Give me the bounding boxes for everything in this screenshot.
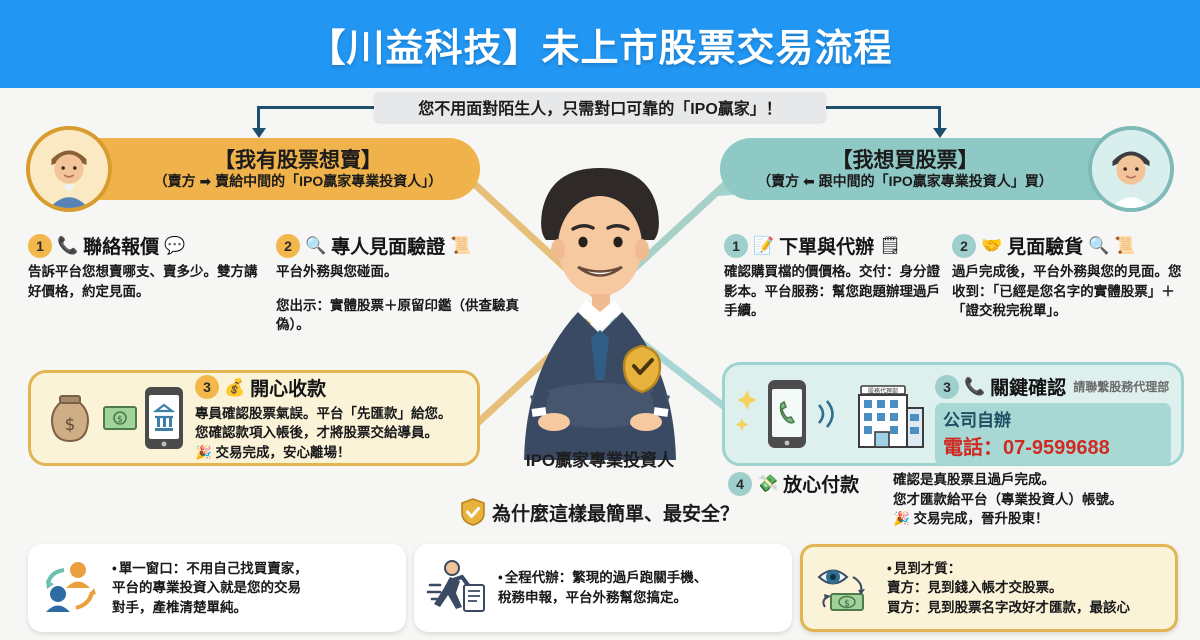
company-building-icon: 股務代理部 — [847, 376, 927, 452]
left-step-2-title: 專人見面驗證 — [331, 232, 445, 259]
right-step-4-line-1: 確認是真股票且過戶完成。 — [893, 470, 1188, 490]
benefit-card-2-text: •全程代辦：繁現的過戶跑關手機、 稅務申報，平台外務幫您搞定。 — [498, 568, 707, 607]
magnifier-icon: 🔍 — [1088, 237, 1109, 254]
benefit-card-2: •全程代辦：繁現的過戶跑關手機、 稅務申報，平台外務幫您搞定。 — [414, 544, 792, 632]
benefit-card-3: $ •見到才質： 賣方：見到錢入帳才交股票。 買方：見到股票名字改好才匯款，最該… — [800, 544, 1178, 632]
top-banner: 您不用面對陌生人，只需對口可靠的「IPO贏家」！ — [374, 92, 826, 122]
contact-phone[interactable]: 電話：07-9599688 — [943, 431, 1163, 460]
left-step-3-line-2: 您確認款項入帳後，才將股票交給導員。 — [195, 423, 465, 443]
banner-drop-right — [938, 106, 941, 130]
left-step-2-body-1: 平台外務與您碰面。 — [276, 262, 526, 282]
certificate-icon: 📜 — [450, 237, 471, 254]
right-step-2-body: 過戶完成後，平台外務與您的見面。您收到：「已經是您名字的實體股票」＋「證交稅完稅… — [952, 262, 1190, 321]
benefit-1-line-3: 對手，產椎清楚單純。 — [112, 598, 308, 618]
right-step-3-note: 請聯繫股務代理部 — [1073, 378, 1169, 395]
left-step-2-number: 2 — [276, 234, 300, 258]
svg-text:$: $ — [65, 415, 76, 435]
handshake-icon: 🤝 — [981, 237, 1002, 254]
bullet-2: • — [498, 570, 503, 585]
arrow-down-right-icon — [933, 128, 947, 138]
bullet-1: • — [112, 561, 117, 576]
right-step-1-title: 下單與代辦 — [779, 232, 874, 259]
arrow-down-left-icon — [252, 128, 266, 138]
chat-bubble-icon: 💬 — [164, 237, 185, 254]
left-step-3-line-3: 🎉 交易完成，安心離場！ — [195, 443, 465, 463]
left-panel-icons: $ $ — [43, 385, 185, 451]
banner-line-left — [258, 106, 378, 109]
memo-pencil-icon: 📝 — [753, 237, 774, 254]
signal-wave-icon — [815, 397, 841, 431]
mobile-call-icon — [765, 378, 809, 450]
right-side-subtitle: （賣方 ⬅ 跟中間的「IPO贏家專業投資人」買） — [720, 174, 1090, 189]
magnifier-icon: 🔍 — [305, 237, 326, 254]
running-person-document-icon — [426, 559, 488, 617]
center-caption: IPO贏家專業投資人 — [466, 446, 734, 471]
cash-fly-icon: 💸 — [757, 475, 778, 492]
left-side-title: 【我有股票想賣】 — [116, 149, 480, 172]
buyer-avatar-icon — [1088, 126, 1174, 212]
infographic-page: 【川益科技】未上市股票交易流程 您不用面對陌生人，只需對口可靠的「IPO贏家」！… — [0, 0, 1200, 640]
left-step-3-title: 開心收款 — [250, 374, 326, 401]
eye-money-icon: $ — [815, 561, 877, 615]
svg-text:$: $ — [117, 415, 123, 425]
benefit-card-1-text: •單一窗口：不用自己找買賣家， 平台的專業投資入就是您的交易 對手，產椎清楚單純… — [112, 559, 308, 618]
contact-box: 公司自辦 電話：07-9599688 — [935, 403, 1171, 465]
banknote-icon: $ — [103, 406, 137, 430]
right-step-3-number: 3 — [935, 375, 959, 399]
left-step-1-body: 告訴平台您想賣哪支、賣多少。雙方講好價格，約定見面。 — [28, 262, 260, 301]
left-step-3-line-1: 專員確認股票氣誤。平台「先匯款」給您。 — [195, 404, 465, 424]
money-bag-icon: 💰 — [224, 379, 245, 396]
clipboard-pen-icon: 🗒 — [879, 237, 901, 254]
left-step-3-number: 3 — [195, 375, 219, 399]
right-step-3-title: 關鍵確認 — [990, 373, 1066, 400]
mobile-bank-icon — [143, 385, 185, 451]
left-step-3-panel: $ $ 3 💰 開心收款 — [28, 370, 480, 466]
right-step-4-number: 4 — [728, 472, 752, 496]
right-panel-icons: 股務代理部 — [735, 373, 927, 455]
right-step-4-line-2: 您才匯款給平台（專業投資人）帳號。 — [893, 490, 1188, 510]
left-step-1-title: 聯絡報價 — [83, 232, 159, 259]
money-bag-icon: $ — [43, 390, 97, 446]
right-step-3-panel: 股務代理部 3 📞 關鍵確認 請聯繫股務代理部 公司自辦 — [722, 362, 1184, 466]
right-step-1: 1 📝 下單與代辦 🗒 確認購買檔的價價格。交付：身分證影本。平台服務：幫您跑題… — [724, 232, 942, 321]
right-step-2: 2 🤝 見面驗貨 🔍 📜 過戶完成後，平台外務與您的見面。您收到：「已經是您名字… — [952, 232, 1190, 321]
certificate-icon: 📜 — [1114, 237, 1135, 254]
two-person-swap-icon — [40, 560, 102, 616]
bullet-3: • — [887, 561, 892, 576]
benefit-1-line-1: 單一窗口：不用自己找買賣家， — [119, 561, 308, 576]
banner-line-right — [822, 106, 940, 109]
right-step-4-title: 放心付款 — [783, 470, 859, 497]
right-step-2-title: 見面驗貨 — [1007, 232, 1083, 259]
right-side-title: 【我想買股票】 — [720, 149, 1090, 172]
right-step-1-number: 1 — [724, 234, 748, 258]
contact-company: 公司自辦 — [943, 406, 1163, 431]
benefit-3-line-3: 買方：見到股票名字改好才匯款，最該心 — [887, 598, 1130, 618]
why-safe-text: 為什麼這樣最簡單、最安全？ — [492, 499, 739, 526]
left-step-2: 2 🔍 專人見面驗證 📜 平台外務與您碰面。 您出示：實體股票＋原留印鑑（供查驗… — [276, 232, 526, 335]
benefit-2-line-2: 稅務申報，平台外務幫您搞定。 — [498, 588, 707, 608]
phone-icon: 📞 — [964, 378, 985, 395]
benefit-2-line-1: 全程代辦：繁現的過戶跑關手機、 — [505, 570, 708, 585]
left-step-2-body-2: 您出示：實體股票＋原留印鑑（供查驗真偽）。 — [276, 296, 526, 335]
right-step-4-line-3: 🎉 交易完成，晉升股東！ — [893, 509, 1188, 529]
left-step-1: 1 📞 聯絡報價 💬 告訴平台您想賣哪支、賣多少。雙方講好價格，約定見面。 — [28, 232, 260, 301]
right-step-2-number: 2 — [952, 234, 976, 258]
benefit-1-line-2: 平台的專業投資入就是您的交易 — [112, 578, 308, 598]
benefit-card-3-text: •見到才質： 賣方：見到錢入帳才交股票。 買方：見到股票名字改好才匯款，最該心 — [887, 559, 1130, 618]
benefit-card-1: •單一窗口：不用自己找買賣家， 平台的專業投資入就是您的交易 對手，產椎清楚單純… — [28, 544, 406, 632]
svg-text:$: $ — [844, 599, 850, 609]
seller-avatar-icon — [26, 126, 112, 212]
left-step-1-number: 1 — [28, 234, 52, 258]
shield-check-icon — [461, 498, 485, 526]
svg-text:股務代理部: 股務代理部 — [868, 387, 898, 395]
top-banner-text: 您不用面對陌生人，只需對口可靠的「IPO贏家」！ — [418, 95, 782, 119]
why-safe-caption: 為什麼這樣最簡單、最安全？ — [430, 498, 770, 526]
phone-icon: 📞 — [57, 237, 78, 254]
right-step-4: 4 💸 放心付款 確認是真股票且過戶完成。 您才匯款給平台（專業投資人）帳號。 … — [728, 470, 1188, 529]
sparkle-icon — [735, 384, 759, 444]
left-side-subtitle: （賣方 ➡ 賣給中間的「IPO贏家專業投資人」） — [116, 174, 480, 189]
benefit-3-line-2: 賣方：見到錢入帳才交股票。 — [887, 578, 1130, 598]
benefit-3-line-1: 見到才質： — [894, 561, 962, 576]
right-step-1-body: 確認購買檔的價價格。交付：身分證影本。平台服務：幫您跑題辦理過戶手續。 — [724, 262, 942, 321]
banner-drop-left — [257, 106, 260, 130]
